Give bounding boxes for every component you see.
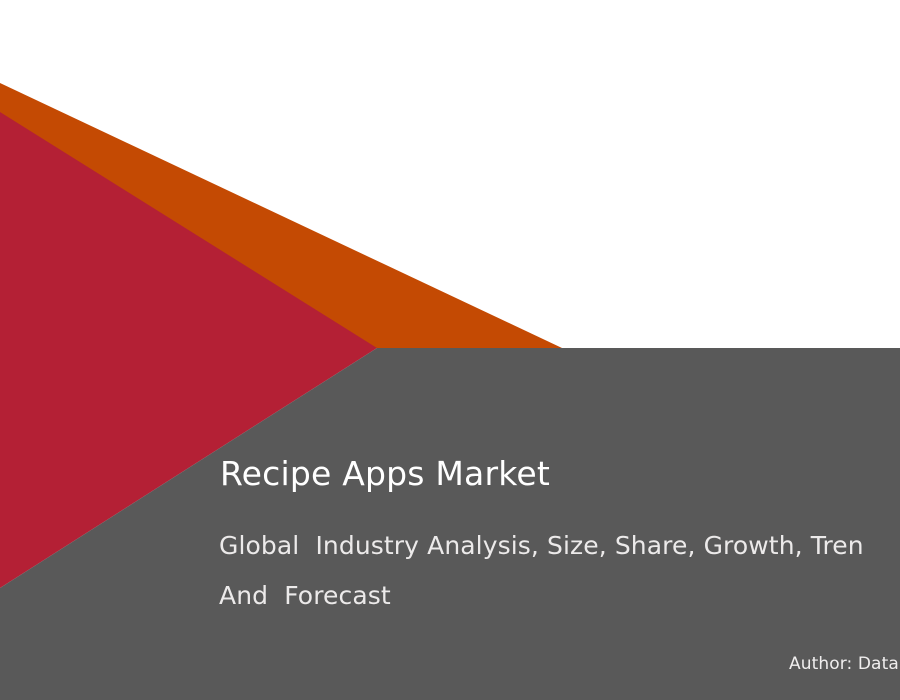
page-title: Recipe Apps Market (220, 452, 550, 496)
subtitle-line-2: And Forecast (219, 571, 900, 621)
report-cover-slide: Recipe Apps Market Global Industry Analy… (0, 0, 900, 700)
text-layer: Recipe Apps Market Global Industry Analy… (0, 0, 900, 700)
subtitle-line-1: Global Industry Analysis, Size, Share, G… (219, 521, 900, 571)
author-label: Author: Data (789, 651, 899, 677)
